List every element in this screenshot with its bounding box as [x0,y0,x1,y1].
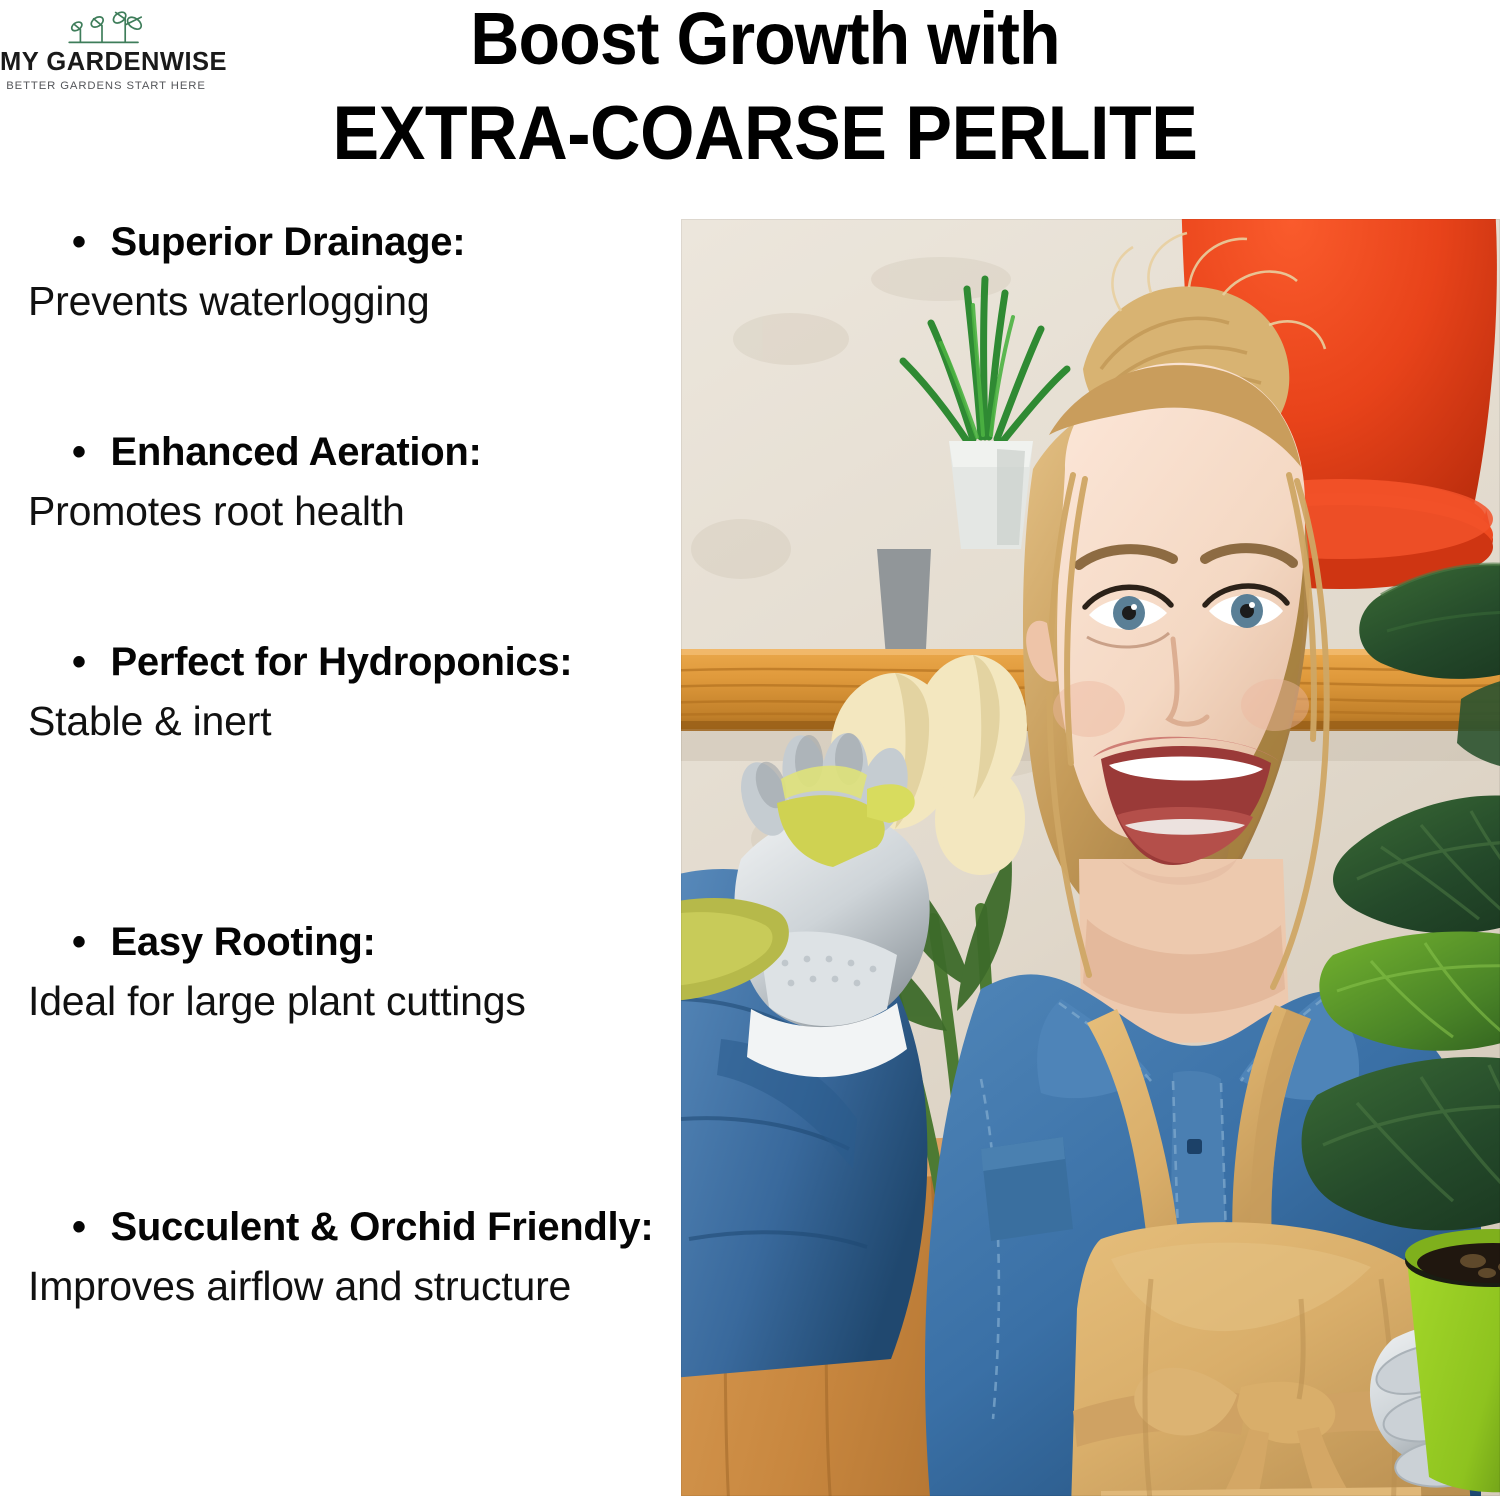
seedling-sprouts-icon [58,8,154,48]
bullet-glyph: • [72,920,86,964]
benefit-description: Stable & inert [0,692,660,752]
benefit-description: Prevents waterlogging [0,272,660,332]
benefit-title-text: Enhanced Aeration: [111,430,482,474]
brand-name: MY GARDENWISE [0,50,212,76]
benefit-title: • Superior Drainage: [0,213,660,272]
list-item: • Easy Rooting: Ideal for large plant cu… [0,913,660,1032]
gardener-photo [681,219,1500,1496]
benefit-title-text: Superior Drainage: [111,220,466,264]
bullet-glyph: • [72,1205,86,1249]
brand-logo: MY GARDENWISE BETTER GARDENS START HERE [0,8,212,94]
benefit-title-text: Easy Rooting: [111,920,376,964]
benefit-title-text: Succulent & Orchid Friendly: [111,1205,654,1249]
headline-line-2: EXTRA-COARSE PERLITE [245,96,1285,172]
headline-line-1: Boost Growth with [245,2,1285,76]
benefit-title: • Perfect for Hydroponics: [0,633,660,692]
benefit-description: Ideal for large plant cuttings [0,972,660,1032]
benefit-title: • Enhanced Aeration: [0,423,660,482]
bullet-glyph: • [72,640,86,684]
bullet-glyph: • [72,220,86,264]
brand-tagline: BETTER GARDENS START HERE [0,81,212,92]
list-item: • Superior Drainage: Prevents waterloggi… [0,213,660,332]
benefit-description: Improves airflow and structure [0,1257,660,1317]
list-item: • Succulent & Orchid Friendly: Improves … [0,1198,660,1317]
benefit-description: Promotes root health [0,482,660,542]
benefit-title-text: Perfect for Hydroponics: [111,640,573,684]
bullet-glyph: • [72,430,86,474]
page-title: Boost Growth with EXTRA-COARSE PERLITE [200,2,1330,172]
benefits-list: • Superior Drainage: Prevents waterloggi… [0,213,660,1496]
list-item: • Enhanced Aeration: Promotes root healt… [0,423,660,542]
list-item: • Perfect for Hydroponics: Stable & iner… [0,633,660,752]
benefit-title: • Succulent & Orchid Friendly: [0,1198,660,1257]
gardener-photo-illustration [681,219,1500,1496]
benefit-title: • Easy Rooting: [0,913,660,972]
